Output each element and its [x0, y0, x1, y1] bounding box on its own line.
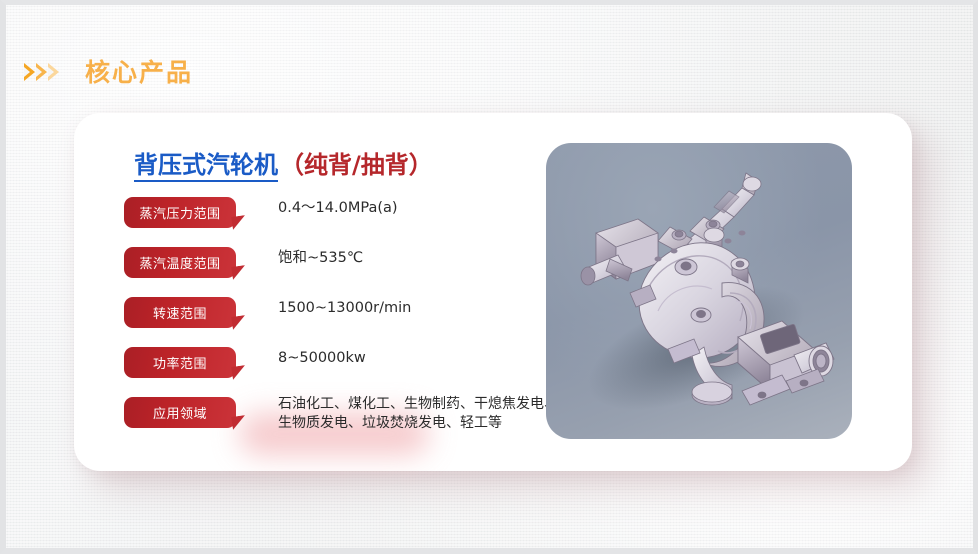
spec-label-badge: 转速范围: [124, 297, 236, 328]
spec-label-badge: 蒸汽温度范围: [124, 247, 236, 278]
product-title-primary: 背压式汽轮机: [134, 151, 278, 182]
spec-value: 0.4～14.0MPa(a): [278, 199, 398, 218]
product-card: 背压式汽轮机（纯背/抽背） 蒸汽压力范围 0.4～14.0MPa(a) 蒸汽温度…: [74, 113, 912, 471]
double-chevron-right-icon: [24, 63, 59, 81]
product-title-secondary: （纯背/抽背）: [280, 151, 433, 179]
section-title: 核心产品: [85, 53, 193, 89]
spec-value: 8~50000kw: [278, 349, 366, 368]
slide-canvas: 核心产品 背压式汽轮机（纯背/抽背） 蒸汽压力范围 0.4～14.0MPa(a)…: [0, 0, 978, 554]
product-title: 背压式汽轮机（纯背/抽背）: [134, 145, 433, 180]
spec-label-badge: 蒸汽压力范围: [124, 197, 236, 228]
section-header: 核心产品: [24, 51, 193, 91]
spec-label-badge: 应用领域: [124, 397, 236, 428]
spec-value: 饱和~535℃: [278, 249, 363, 268]
spec-value: 石油化工、煤化工、生物制药、干熄焦发电、 生物质发电、垃圾焚烧发电、轻工等: [278, 395, 558, 433]
spec-value: 1500~13000r/min: [278, 299, 411, 318]
product-image-panel: [546, 143, 852, 439]
spec-label-badge: 功率范围: [124, 347, 236, 378]
turbine-3d-render-icon: [546, 143, 852, 439]
